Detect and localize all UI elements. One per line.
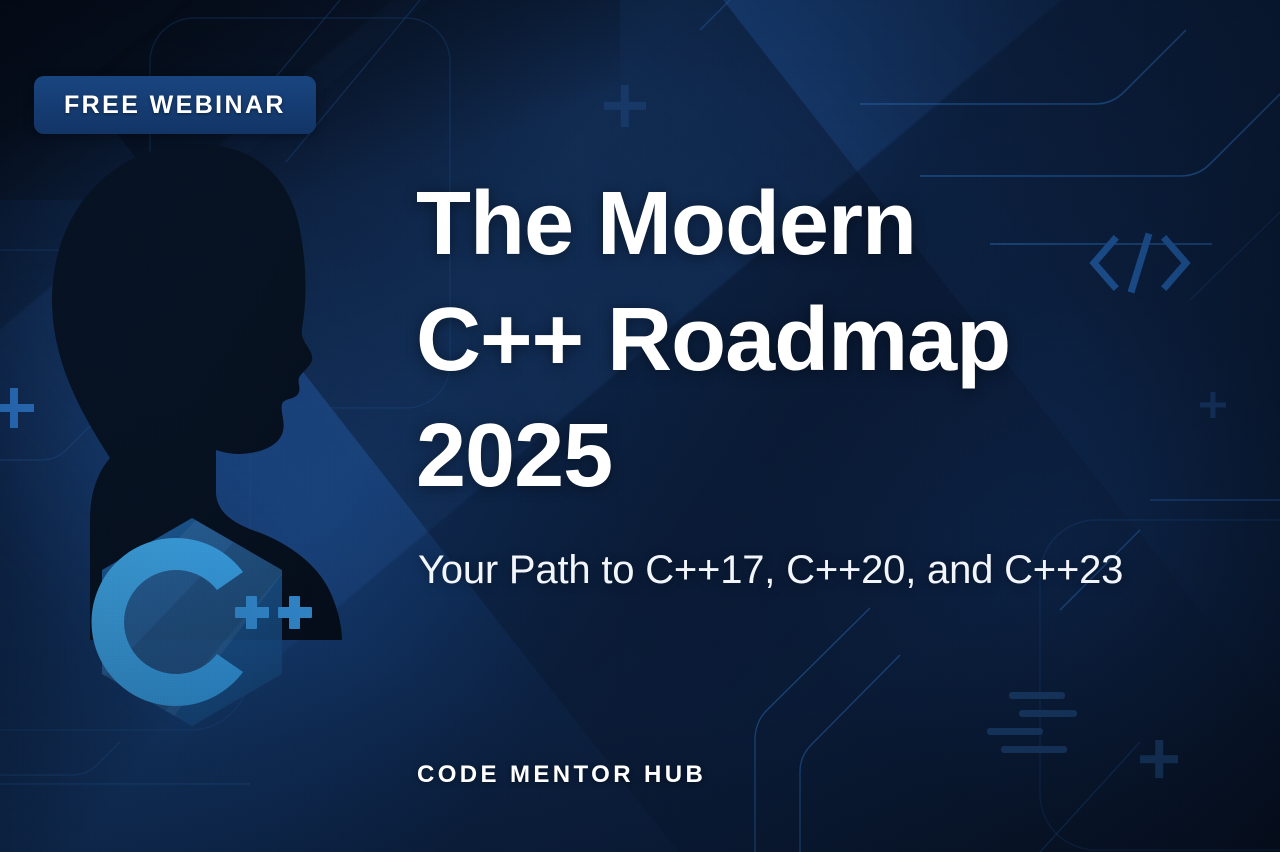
headline-line-3: 2025 xyxy=(416,398,1256,514)
headline-line-1: The Modern xyxy=(416,166,1256,282)
webinar-banner: FREE WEBINAR The Modern C++ Roadmap 2025… xyxy=(0,0,1280,852)
headline-line-2: C++ Roadmap xyxy=(416,282,1256,398)
badge-label: FREE WEBINAR xyxy=(64,91,286,120)
page-subtitle: Your Path to C++17, C++20, and C++23 xyxy=(418,548,1123,593)
page-title: The Modern C++ Roadmap 2025 xyxy=(416,166,1256,514)
free-webinar-badge: FREE WEBINAR xyxy=(34,76,316,134)
brand-name: CODE MENTOR HUB xyxy=(417,761,706,789)
